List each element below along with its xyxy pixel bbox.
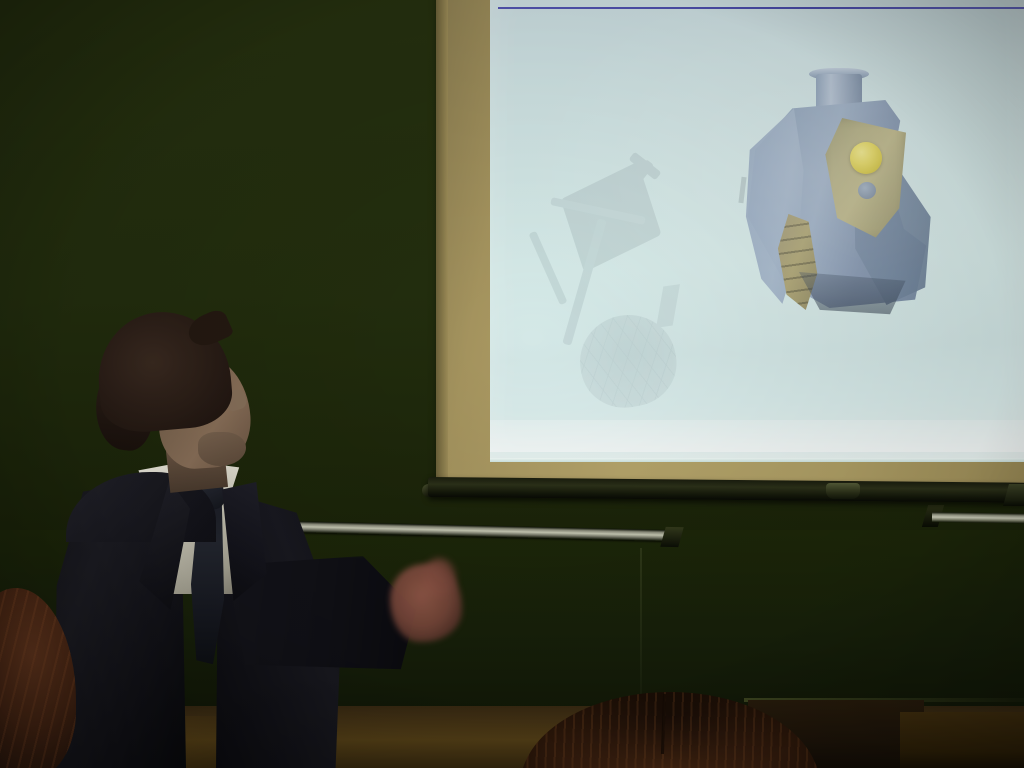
projected-slide: Final Design – Resp5 unit [490, 0, 1024, 462]
chalk-rail-right [932, 512, 1024, 523]
slide-bottom-edge [490, 458, 1024, 462]
presenter [30, 306, 460, 768]
projection-screen: Final Design – Resp5 unit [436, 0, 1024, 502]
foreground-furniture-right [900, 712, 1024, 768]
device-gray-button [858, 182, 876, 199]
presenter-pointing-hand [390, 564, 462, 642]
slide-watermark-graphic [520, 157, 710, 407]
device-yellow-button [850, 142, 882, 174]
watermark-flag [656, 284, 680, 328]
presenter-chin [198, 432, 246, 466]
screen-pull-hook[interactable] [826, 483, 860, 499]
device-render [738, 62, 958, 342]
slide-lower-band [490, 420, 1024, 452]
slide-title-underline [498, 7, 1024, 9]
presentation-photo-scene: Final Design – Resp5 unit [0, 0, 1024, 768]
watermark-strut-side [528, 231, 567, 306]
